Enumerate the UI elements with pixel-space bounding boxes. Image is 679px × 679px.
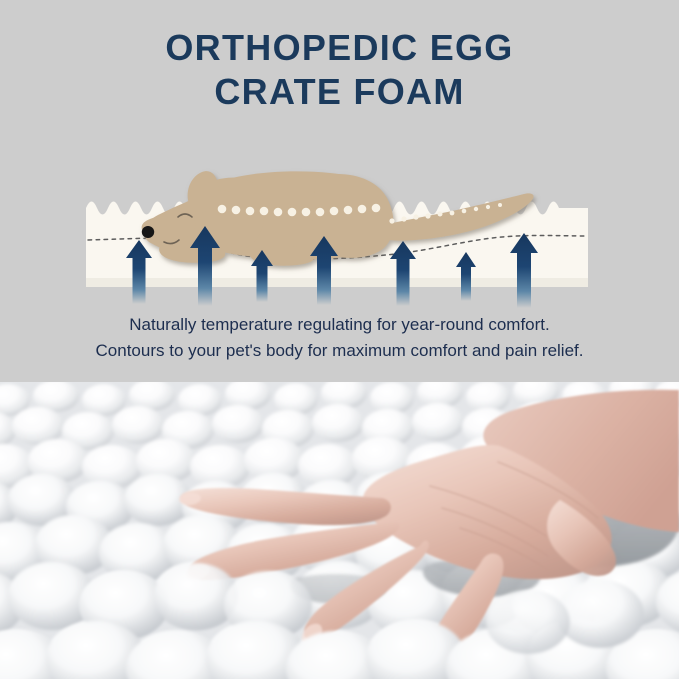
- product-infographic-image: ORTHOPEDIC EGG CRATE FOAM: [0, 0, 679, 679]
- caption-line-1: Naturally temperature regulating for yea…: [0, 312, 679, 338]
- top-infographic-panel: ORTHOPEDIC EGG CRATE FOAM: [0, 0, 679, 382]
- hand-pressing-egg-crate-foam-photo: [0, 382, 679, 679]
- title-line-2: CRATE FOAM: [0, 70, 679, 114]
- foam-photo-graphic: [0, 382, 679, 679]
- foam-base-shade: [86, 278, 588, 287]
- dog-on-foam-diagram: [0, 128, 679, 313]
- title-line-1: ORTHOPEDIC EGG: [0, 26, 679, 70]
- caption-line-2: Contours to your pet's body for maximum …: [0, 338, 679, 364]
- dog-nose-icon: [142, 226, 154, 238]
- page-title: ORTHOPEDIC EGG CRATE FOAM: [0, 26, 679, 114]
- caption-block: Naturally temperature regulating for yea…: [0, 312, 679, 364]
